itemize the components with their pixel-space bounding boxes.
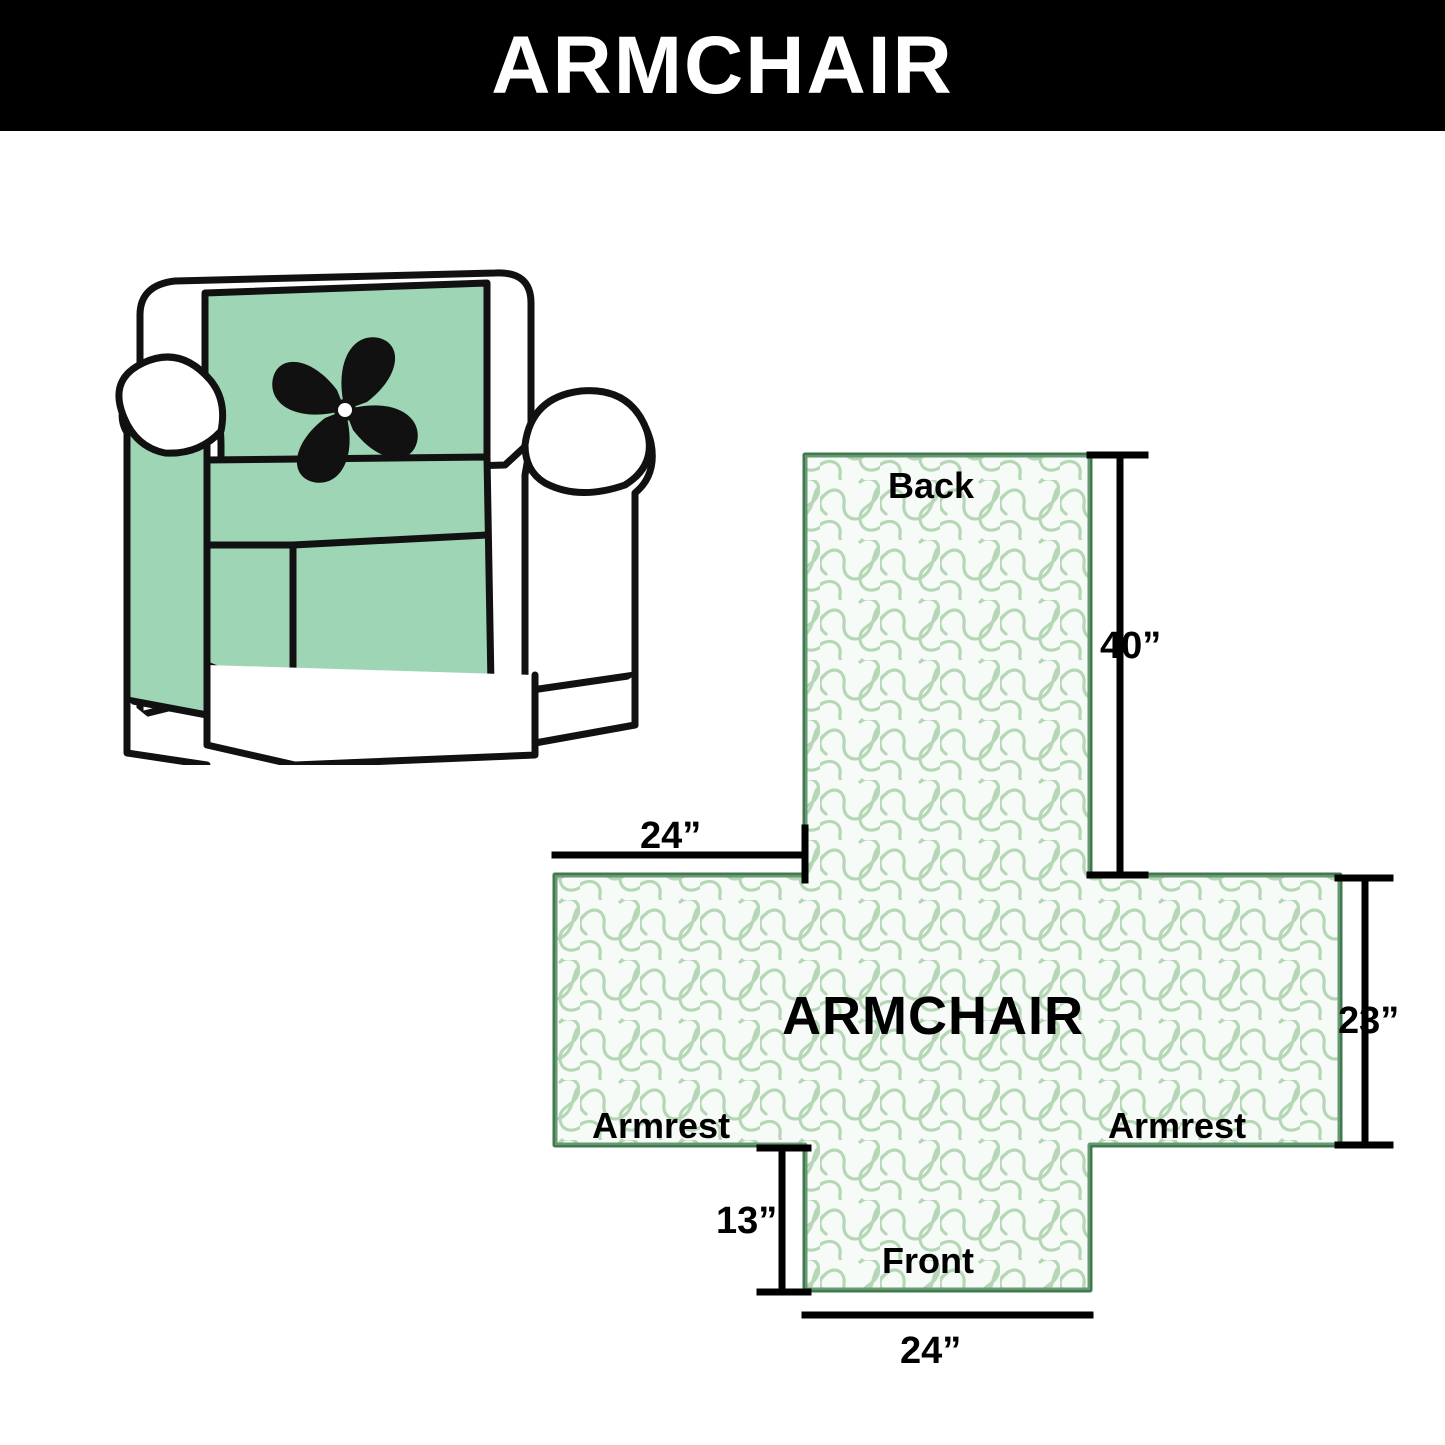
page-title: ARMCHAIR (491, 25, 953, 107)
cover-pattern-svg (520, 420, 1445, 1420)
cover-pattern-diagram: Back Front Armrest Armrest ARMCHAIR 40” … (520, 420, 1445, 1420)
label-front: Front (882, 1240, 974, 1282)
dimension-label-back-width: 24” (640, 815, 701, 858)
label-back: Back (888, 465, 974, 507)
dimension-label-back-height: 40” (1100, 625, 1161, 668)
cross-shape (555, 455, 1340, 1290)
header-bar: ARMCHAIR (0, 0, 1445, 131)
label-armchair-center: ARMCHAIR (782, 985, 1084, 1047)
dimension-label-seat-height: 23” (1338, 1000, 1399, 1043)
dimension-label-front-width: 24” (900, 1330, 961, 1373)
label-armrest-left: Armrest (592, 1105, 730, 1147)
label-armrest-right: Armrest (1108, 1105, 1246, 1147)
dimension-label-front-height: 13” (716, 1200, 777, 1243)
page-root: ARMCHAIR (0, 0, 1445, 1445)
